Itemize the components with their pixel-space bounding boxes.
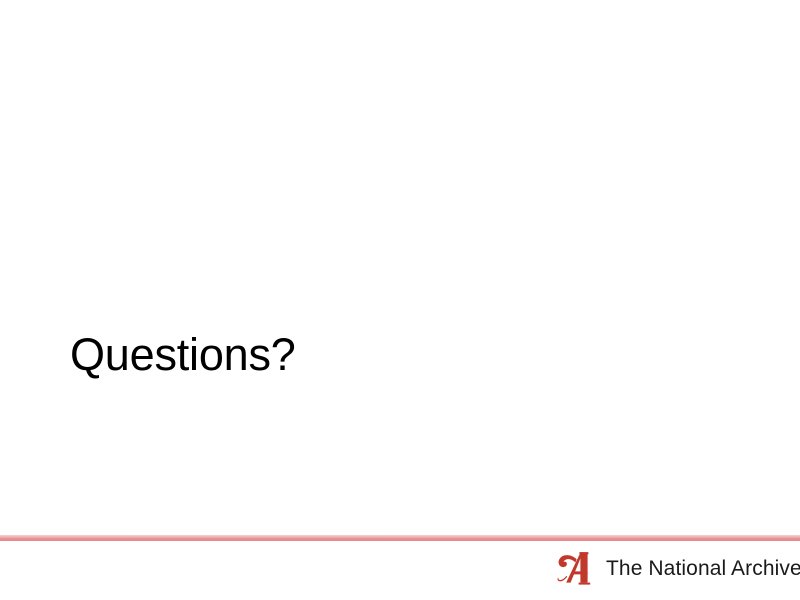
- footer-divider: [0, 535, 800, 541]
- organisation-logo: The National Archives: [556, 548, 788, 588]
- slide-heading: Questions?: [70, 330, 730, 380]
- logo-wordmark: The National Archives: [606, 557, 800, 581]
- slide-content-placeholder: Questions?: [70, 330, 730, 390]
- presentation-slide: Questions? The National Archives: [0, 0, 800, 600]
- swash-letter-a-icon: [556, 549, 602, 587]
